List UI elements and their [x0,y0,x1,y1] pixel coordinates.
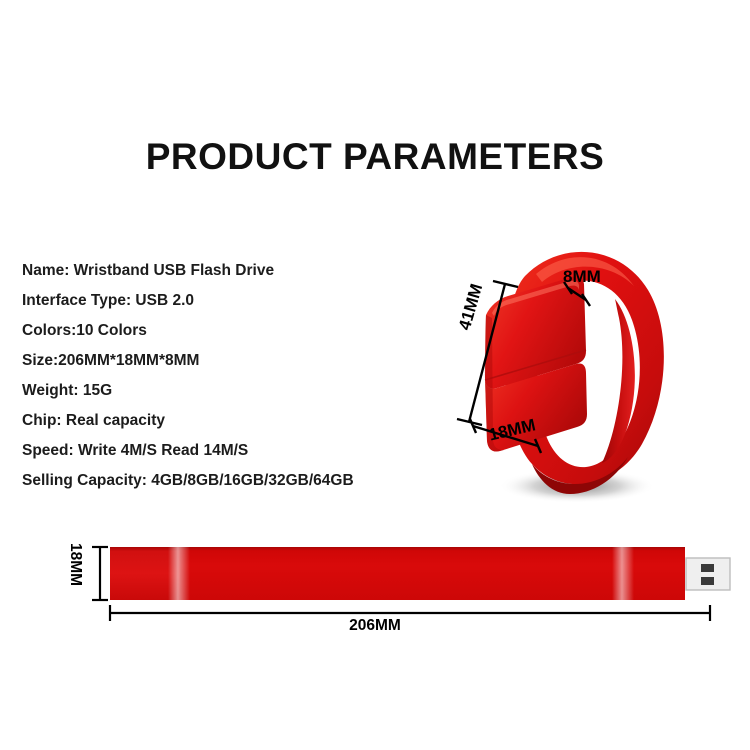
spec-line-speed: Speed: Write 4M/S Read 14M/S [22,436,442,466]
dim-label-206mm: 206MM [0,617,750,635]
spec-line-chip: Chip: Real capacity [22,406,442,436]
spec-line-interface: Interface Type: USB 2.0 [22,286,442,316]
product-parameters-image: PRODUCT PARAMETERS Name: Wristband USB F… [0,0,750,750]
spec-line-size: Size:206MM*18MM*8MM [22,346,442,376]
strip-seam-left [168,547,190,600]
strip-body [110,547,685,600]
usb-contact-pad-bottom [701,577,714,585]
strip-seam-right [612,547,634,600]
spec-line-capacity: Selling Capacity: 4GB/8GB/16GB/32GB/64GB [22,466,442,496]
page-title: PRODUCT PARAMETERS [0,136,750,178]
spec-line-name: Name: Wristband USB Flash Drive [22,256,442,286]
dim-label-18mm-strip: 18MM [66,543,84,586]
spec-line-weight: Weight: 15G [22,376,442,406]
wristband-ring-photo [452,214,687,509]
dim-18mm-strip [92,547,108,600]
spec-line-colors: Colors:10 Colors [22,316,442,346]
dim-label-8mm: 8MM [563,267,601,287]
usb-contact-pad-top [701,564,714,572]
spec-list: Name: Wristband USB Flash Drive Interfac… [22,256,442,496]
usb-connector-body [686,558,730,590]
